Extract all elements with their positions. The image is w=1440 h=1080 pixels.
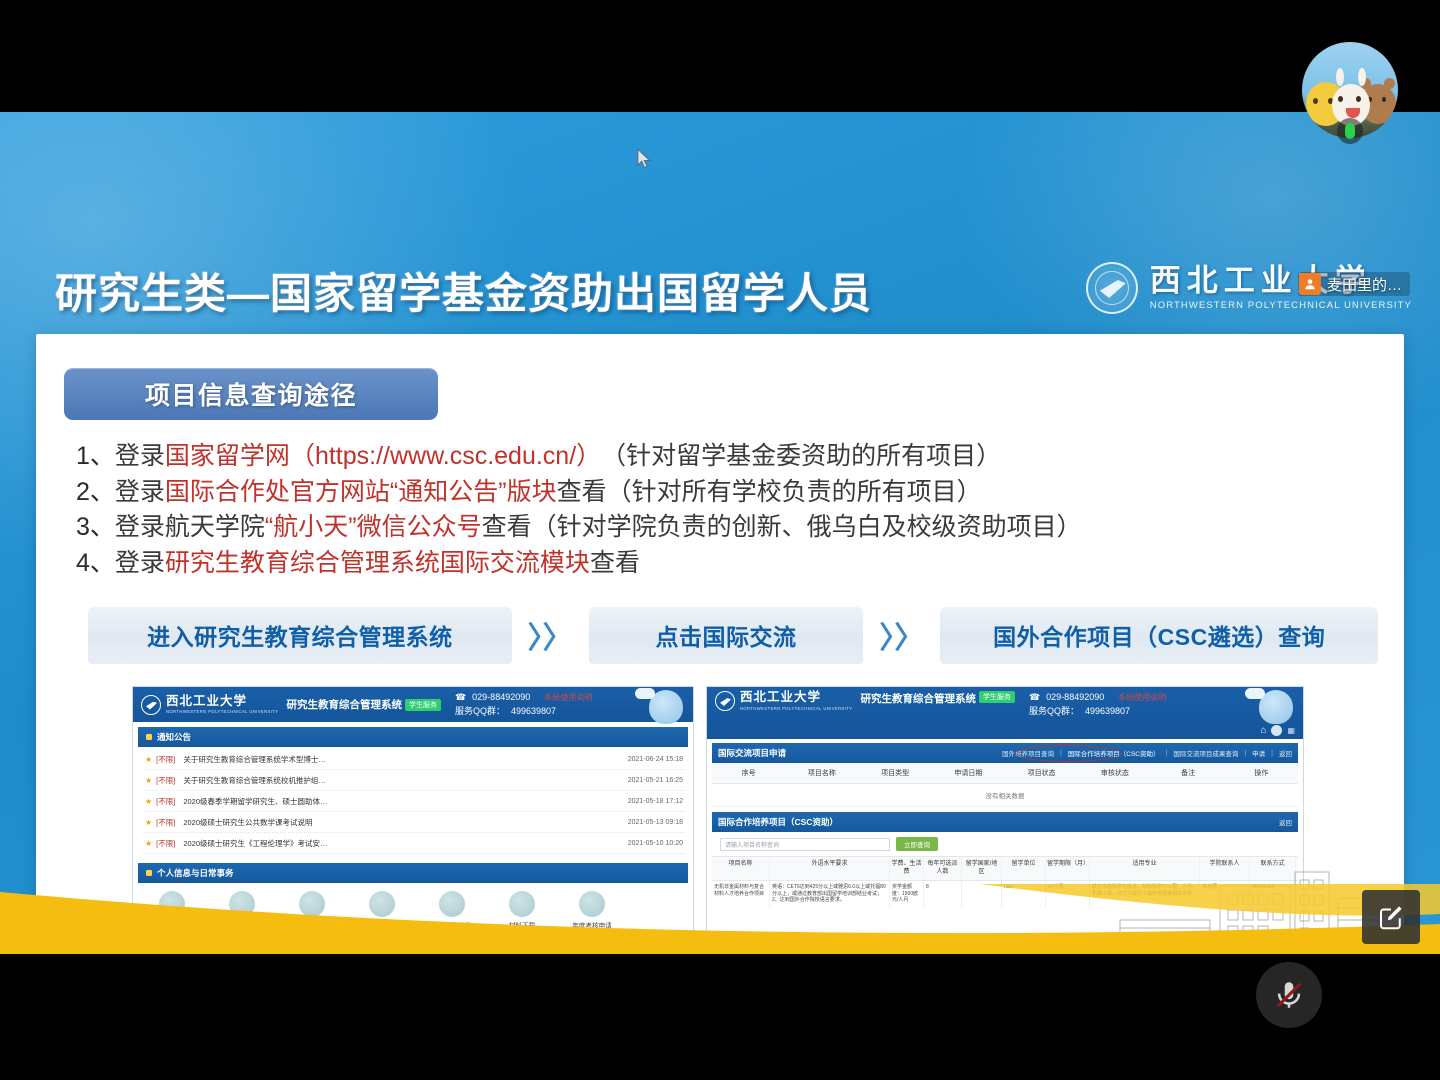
star-icon: ★ [145, 755, 152, 764]
microphone-active-icon [1337, 118, 1363, 144]
column-header: 备注 [1152, 768, 1225, 778]
sys-phone: 029-88492090 [1046, 691, 1104, 705]
sys-uni-en: NORTHWESTERN POLYTECHNICAL UNIVERSITY [740, 706, 852, 711]
panel2-title: 国际合作培养项目（CSC资助） [718, 816, 838, 828]
sys-red-note: 系统使用说明 [1118, 692, 1166, 704]
star-icon: ★ [145, 797, 152, 806]
list-item[interactable]: ★[不限]2020级硕士研究生《工程伦理学》考试安…2021-05-10 10:… [143, 833, 685, 854]
column-header: 学费、生活费 [890, 857, 924, 880]
separator: | [1244, 750, 1246, 757]
column-header: 项目名称 [712, 857, 770, 880]
screen: 研究生类—国家留学基金资助出国留学人员 西北工业大学 NORTHWESTERN … [0, 0, 1440, 1080]
list-item[interactable]: ★[不限]2020级春季学期留学研究生、硕士圆助体…2021-05-18 17:… [143, 791, 685, 812]
panel1-empty-message: 没有相关数据 [712, 784, 1298, 807]
column-header: 外语水平要求 [770, 857, 890, 880]
separator: | [1271, 750, 1273, 757]
sys-qq: 499639807 [511, 705, 556, 719]
panel2-search-area: 请输入项目名称查询 立即查询 [712, 832, 1298, 856]
list-item[interactable]: ★[不限]2020级硕士研究生公共数学课考试说明2021-05-13 09:18 [143, 812, 685, 833]
toolbar-button-5[interactable]: 返回 [1279, 748, 1292, 758]
university-seal-icon [141, 695, 161, 715]
star-icon: ★ [145, 839, 152, 848]
column-header: 每年可选派人数 [924, 857, 962, 880]
panel2-header: 国际合作培养项目（CSC资助） 返回 [712, 812, 1298, 832]
sys-phone: 029-88492090 [472, 691, 530, 705]
panel1-toolbar: 国际交流项目申请 国外培养项目查询|国际合作培养项目（CSC资助）|国际交流项目… [712, 743, 1298, 763]
mascot-icon [1259, 690, 1293, 724]
university-name-en: NORTHWESTERN POLYTECHNICAL UNIVERSITY [1150, 301, 1412, 311]
system-header-left: 西北工业大学 NORTHWESTERN POLYTECHNICAL UNIVER… [133, 687, 693, 722]
bullet-1: 1、登录国家留学网（https://www.csc.edu.cn/） （针对留学… [76, 439, 1356, 475]
telephone-icon: ☎ [455, 691, 466, 705]
toolbar-button-3[interactable]: 国际交流项目成果查询 [1173, 748, 1238, 758]
university-seal-icon [715, 691, 735, 711]
participant-video-tile[interactable] [1302, 42, 1398, 138]
sys-qq-label: 服务QQ群： [1029, 705, 1079, 719]
section-title: 项目信息查询途径 [145, 376, 357, 412]
person-icon [1299, 273, 1321, 295]
search-button[interactable]: 立即查询 [896, 837, 938, 851]
column-header: 操作 [1225, 768, 1298, 778]
column-header: 项目状态 [1005, 768, 1078, 778]
column-header: 审核状态 [1078, 768, 1151, 778]
page-title: 研究生类—国家留学基金资助出国留学人员 [55, 260, 872, 321]
annotate-button[interactable] [1362, 890, 1420, 944]
participant-name-tag: 麦田里的… [1298, 272, 1410, 296]
step-flow: 进入研究生教育综合管理系统 〉〉 点击国际交流 〉〉 国外合作项目（CSC遴选）… [88, 606, 1378, 664]
step-3-label: 国外合作项目（CSC遴选）查询 [993, 618, 1325, 652]
toolbar-button-4[interactable]: 申请 [1252, 748, 1265, 758]
sys-qq: 499639807 [1085, 705, 1130, 719]
telephone-icon: ☎ [1029, 691, 1040, 705]
toolbar-button-2[interactable]: 国际合作培养项目（CSC资助） [1068, 748, 1160, 758]
step-1[interactable]: 进入研究生教育综合管理系统 [88, 606, 512, 664]
annotate-pen-icon [1376, 902, 1406, 932]
separator: | [1060, 750, 1062, 757]
system-header-right: 西北工业大学 NORTHWESTERN POLYTECHNICAL UNIVER… [707, 687, 1303, 739]
mute-button[interactable] [1256, 962, 1322, 1028]
separator: | [1166, 750, 1168, 757]
sys-name: 研究生教育综合管理系统 [860, 691, 976, 706]
search-input[interactable]: 请输入项目名称查询 [720, 838, 890, 851]
bullet-list: 1、登录国家留学网（https://www.csc.edu.cn/） （针对留学… [76, 439, 1356, 581]
notice-section-header: 通知公告 [138, 727, 688, 747]
menu-icon[interactable]: ▦ [1287, 726, 1295, 735]
sys-qq-label: 服务QQ群： [455, 705, 505, 719]
group1-header: 个人信息与日常事务 [138, 863, 688, 883]
column-header: 申请日期 [932, 768, 1005, 778]
bullet-2: 2、登录国际合作处官方网站“通知公告”版块查看（针对所有学校负责的所有项目） [76, 475, 1356, 511]
sys-badge: 学生服务 [979, 691, 1015, 703]
sys-uni-cn: 西北工业大学 [740, 691, 852, 704]
toolbar-button-1[interactable]: 国外培养项目查询 [1002, 748, 1054, 758]
section-title-pill: 项目信息查询途径 [64, 368, 438, 420]
list-item[interactable]: ★[不限]关于研究生教育综合管理系统学术型博士…2021-06-24 15:18 [143, 749, 685, 770]
slide-content-card: 项目信息查询途径 1、登录国家留学网（https://www.csc.edu.c… [36, 334, 1404, 954]
star-icon: ★ [145, 776, 152, 785]
home-icon[interactable]: ⌂ [1260, 725, 1266, 736]
user-avatar-icon[interactable] [1271, 725, 1282, 736]
sys-uni-en: NORTHWESTERN POLYTECHNICAL UNIVERSITY [166, 709, 278, 714]
column-header: 留学单位 [1002, 857, 1046, 880]
group1-title: 个人信息与日常事务 [157, 867, 234, 879]
panel1-title: 国际交流项目申请 [718, 747, 786, 759]
microphone-muted-icon [1272, 978, 1306, 1012]
list-item[interactable]: ★[不限]关于研究生教育综合管理系统校机推护组…2021-05-21 16:25 [143, 770, 685, 791]
column-header: 留学期限（月） [1046, 857, 1090, 880]
mouse-pointer-icon [636, 148, 652, 175]
notice-section-title: 通知公告 [157, 731, 191, 743]
chevron-right-icon-2: 〉〉 [879, 613, 924, 657]
step-3[interactable]: 国外合作项目（CSC遴选）查询 [940, 606, 1378, 664]
step-2-label: 点击国际交流 [656, 618, 797, 652]
chevron-right-icon-1: 〉〉 [528, 613, 573, 657]
bullet-4: 4、登录研究生教育综合管理系统国际交流模块查看 [76, 546, 1356, 582]
notice-list: ★[不限]关于研究生教育综合管理系统学术型博士…2021-06-24 15:18… [133, 747, 693, 858]
column-header: 留学国家/地区 [962, 857, 1002, 880]
university-seal-icon [1086, 262, 1138, 314]
shared-slide: 研究生类—国家留学基金资助出国留学人员 西北工业大学 NORTHWESTERN … [0, 112, 1440, 954]
sys-badge: 学生服务 [405, 699, 441, 711]
step-1-label: 进入研究生教育综合管理系统 [147, 618, 453, 652]
sys-uni-cn: 西北工业大学 [166, 695, 278, 708]
column-header: 项目类型 [859, 768, 932, 778]
sys-name: 研究生教育综合管理系统 [286, 697, 402, 712]
mascot-icon [649, 690, 683, 724]
bullet-3: 3、登录航天学院“航小天”微信公众号查看（针对学院负责的创新、俄乌白及校级资助项… [76, 510, 1356, 546]
yellow-swoosh-decoration [0, 884, 1440, 954]
panel1-table-header: 序号项目名称项目类型申请日期项目状态审核状态备注操作 [712, 763, 1298, 784]
participant-name: 麦田里的… [1327, 274, 1402, 295]
column-header: 序号 [712, 768, 785, 778]
sys-red-note: 系统使用说明 [544, 692, 592, 704]
step-2[interactable]: 点击国际交流 [589, 606, 864, 664]
column-header: 项目名称 [785, 768, 858, 778]
panel2-back-button[interactable]: 返回 [1279, 817, 1292, 827]
star-icon: ★ [145, 818, 152, 827]
